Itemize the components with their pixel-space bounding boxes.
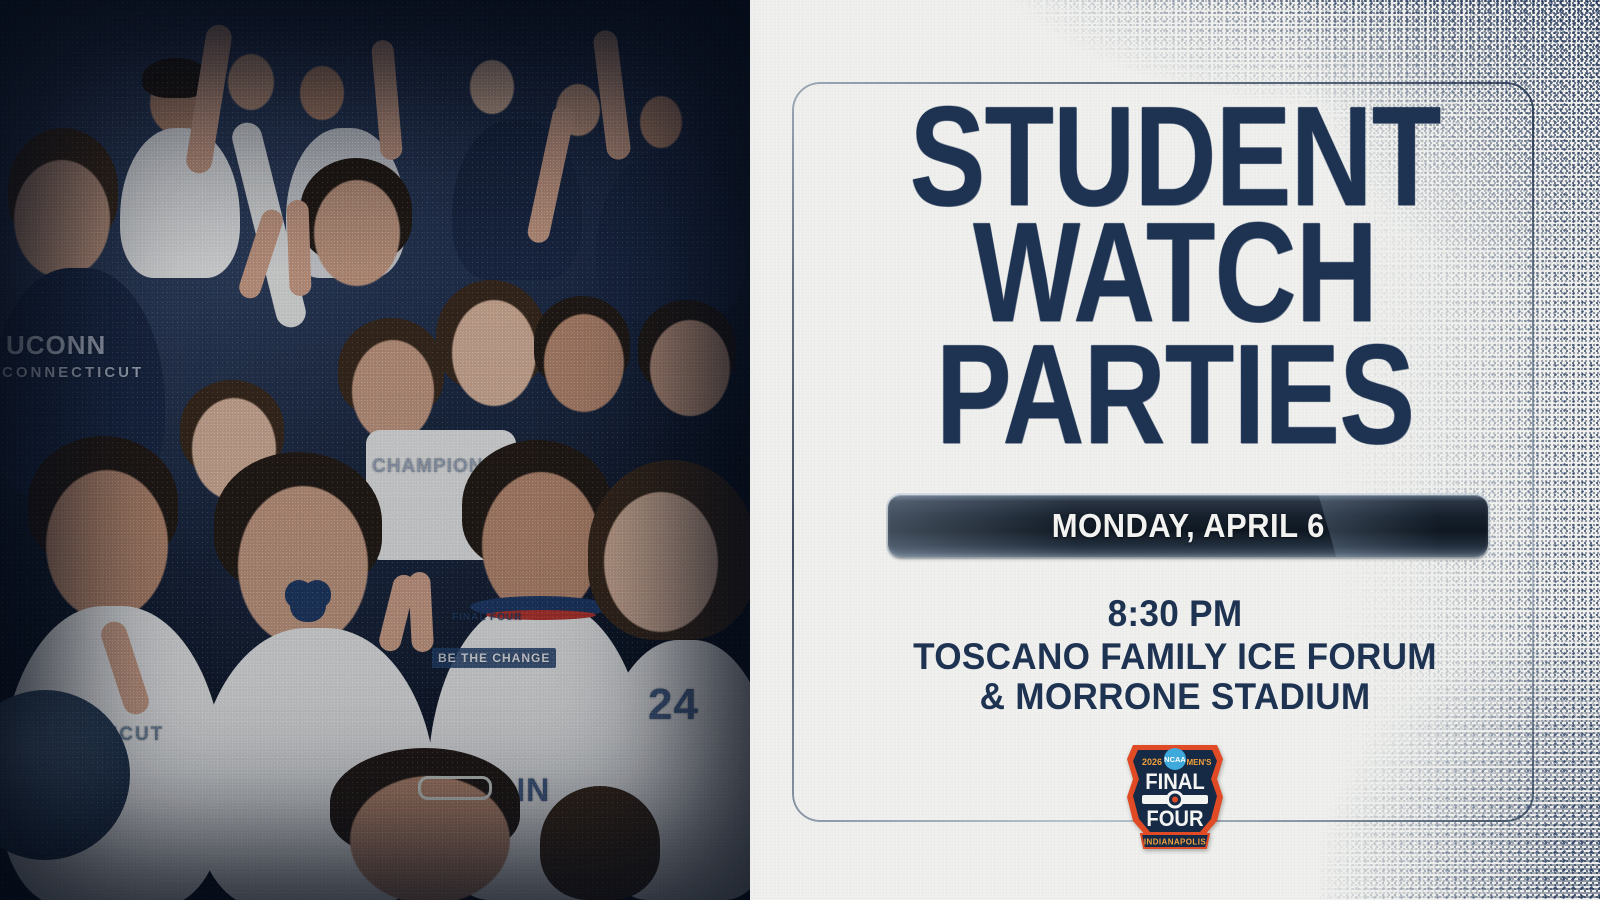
logo-org: NCAA [1164,755,1186,764]
event-time: 8:30 PM [771,595,1579,633]
logo-line-2: FOUR [1146,807,1203,831]
date-banner-text: MONDAY, APRIL 6 [1051,507,1324,545]
event-venue-line-2: & MORRONE STADIUM [771,678,1579,716]
date-banner: MONDAY, APRIL 6 [888,495,1488,557]
crowd-photo: UCONN CONNECTICUT CHAMPIONSHIP CONNECTIC… [0,0,750,900]
photo-vignette [0,0,750,900]
event-details: 8:30 PM TOSCANO FAMILY ICE FORUM & MORRO… [750,595,1600,716]
title-line-2: WATCH PARTIES [835,212,1515,456]
content-panel: STUDENT WATCH PARTIES MONDAY, APRIL 6 8:… [750,0,1600,900]
final-four-logo: 2026 NCAA MEN'S FINAL FOUR INDIANAPOLIS [1121,733,1229,851]
logo-year: 2026 [1142,757,1162,767]
event-venue-line-1: TOSCANO FAMILY ICE FORUM [771,638,1579,676]
logo-emblem-center [1172,797,1178,803]
logo-city: INDIANAPOLIS [1144,838,1206,847]
logo-division: MEN'S [1186,758,1212,767]
poster-canvas: UCONN CONNECTICUT CHAMPIONSHIP CONNECTIC… [0,0,1600,900]
poster-title: STUDENT WATCH PARTIES [750,96,1600,456]
